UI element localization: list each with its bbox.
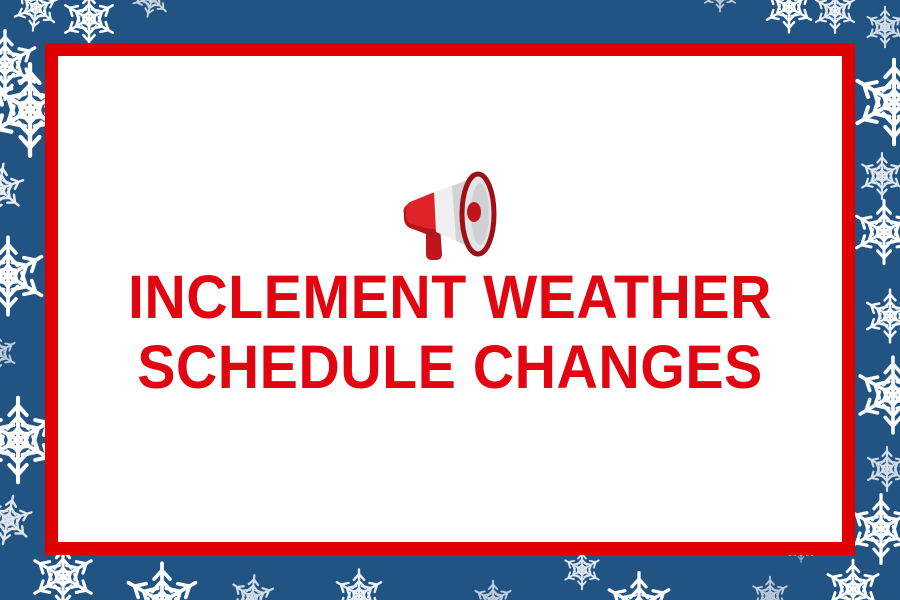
snowflake-icon [223,569,280,600]
megaphone-icon [390,168,510,268]
snowflake-icon [0,155,33,222]
snowflake-icon [820,556,886,600]
snowflake-icon [856,150,900,202]
snowflake-icon [748,574,792,600]
snowflake-icon [850,352,900,438]
snowflake-icon [700,0,740,14]
snowflake-icon [600,568,678,600]
snowflake-icon [470,578,516,600]
title-line-1: INCLEMENT WEATHER [82,262,819,332]
white-content-card: INCLEMENT WEATHER SCHEDULE CHANGES [58,56,842,542]
snowflake-icon [330,566,388,600]
title-line-2: SCHEDULE CHANGES [82,332,819,402]
snowflake-icon [0,330,20,376]
snowflake-icon [125,0,178,25]
snowflake-icon [810,0,860,36]
snowflake-icon [862,444,900,494]
snowflake-icon [860,286,900,346]
snowflake-icon [848,196,900,268]
snowflake-icon [118,558,206,600]
snowflake-icon [862,4,900,50]
inclement-weather-poster: INCLEMENT WEATHER SCHEDULE CHANGES [0,0,900,600]
page-title: INCLEMENT WEATHER SCHEDULE CHANGES [58,262,842,402]
